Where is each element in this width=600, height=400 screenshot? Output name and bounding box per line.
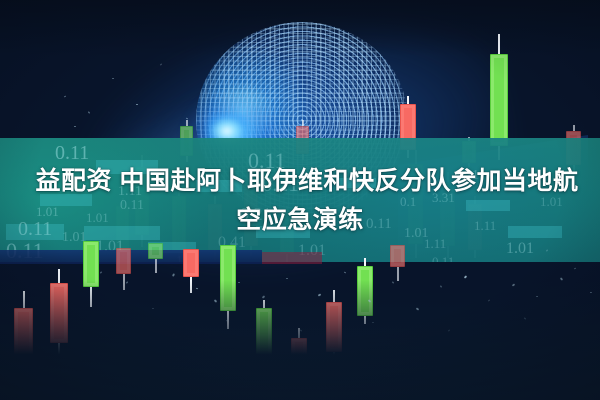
news-banner-image: 0.110.110.211.113.311.111.011.010.110.11… (0, 0, 600, 400)
headline-line-1: 益配资 中国赴阿卜耶伊维和快反分队参加当地航 (0, 162, 600, 201)
page-title: 益配资 中国赴阿卜耶伊维和快反分队参加当地航 空应急演练 (0, 162, 600, 240)
headline-line-2: 空应急演练 (0, 201, 600, 240)
